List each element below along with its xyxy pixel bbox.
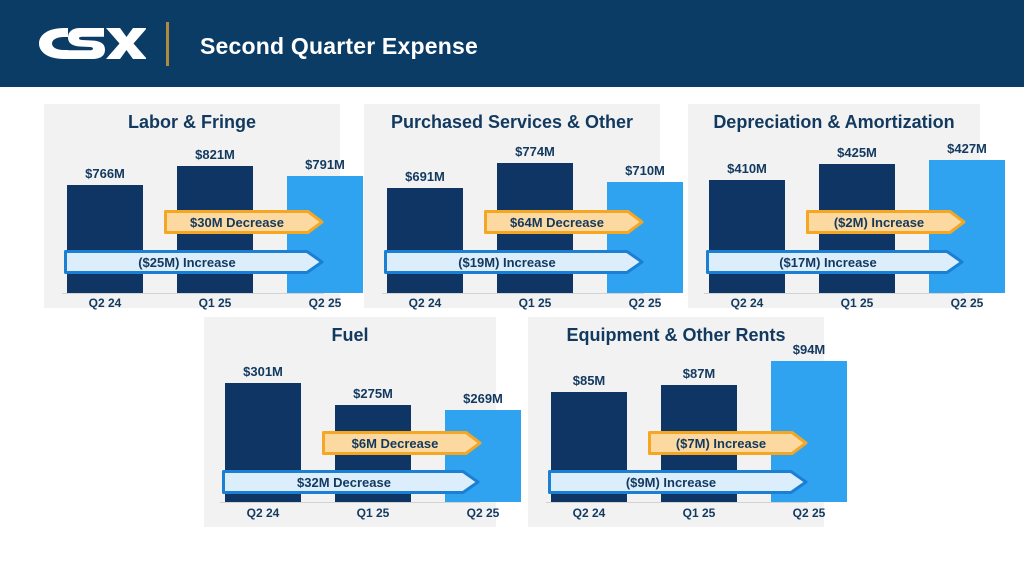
category-label-q1-25: Q1 25 <box>335 506 411 520</box>
panel-labor-and-fringe: Labor & Fringe $766M $821M $791M $30M De… <box>44 104 340 308</box>
bar-value-q2-25: $269M <box>445 391 521 406</box>
csx-logo <box>34 21 146 66</box>
bar-q2-24 <box>709 180 785 293</box>
bar-value-q1-25: $425M <box>819 145 895 160</box>
category-label-q2-24: Q2 24 <box>387 296 463 310</box>
callout-orange: $6M Decrease <box>322 430 482 456</box>
category-label-q2-25: Q2 25 <box>445 506 521 520</box>
callout-blue-label: ($9M) Increase <box>626 475 730 490</box>
category-label-q1-25: Q1 25 <box>497 296 573 310</box>
category-label-q2-25: Q2 25 <box>287 296 363 310</box>
axis-line <box>382 293 644 294</box>
bar-value-q2-25: $791M <box>287 157 363 172</box>
category-label-q2-25: Q2 25 <box>607 296 683 310</box>
page-title: Second Quarter Expense <box>200 33 478 60</box>
category-label-q1-25: Q1 25 <box>661 506 737 520</box>
category-label-q1-25: Q1 25 <box>177 296 253 310</box>
callout-orange-label: $64M Decrease <box>510 215 618 230</box>
callout-blue-label: ($25M) Increase <box>138 255 250 270</box>
panel-depreciation-and-amortization: Depreciation & Amortization $410M $425M … <box>688 104 980 308</box>
callout-blue: $32M Decrease <box>222 469 480 495</box>
bar-value-q1-25: $275M <box>335 386 411 401</box>
axis-line <box>546 502 808 503</box>
callout-blue: ($19M) Increase <box>384 249 644 275</box>
callout-orange-label: $30M Decrease <box>190 215 298 230</box>
bar-value-q2-24: $410M <box>709 161 785 176</box>
bar-value-q1-25: $87M <box>661 366 737 381</box>
category-label-q2-25: Q2 25 <box>771 506 847 520</box>
bar-value-q2-24: $691M <box>387 169 463 184</box>
callout-blue: ($17M) Increase <box>706 249 964 275</box>
callout-orange: ($2M) Increase <box>806 209 966 235</box>
category-label-q2-24: Q2 24 <box>709 296 785 310</box>
category-label-q2-24: Q2 24 <box>67 296 143 310</box>
callout-orange-label: ($7M) Increase <box>676 436 780 451</box>
category-label-q2-25: Q2 25 <box>929 296 1005 310</box>
plot-area: $301M $275M $269M $6M Decrease $32M Decr… <box>204 317 496 527</box>
bar-value-q2-24: $301M <box>225 364 301 379</box>
bar-value-q1-25: $821M <box>177 147 253 162</box>
panel-fuel: Fuel $301M $275M $269M $6M Decrease $32M… <box>204 317 496 527</box>
panel-equipment-and-other-rents: Equipment & Other Rents $85M $87M $94M (… <box>528 317 824 527</box>
bar-q2-25 <box>607 182 683 293</box>
axis-line <box>704 293 964 294</box>
category-label-q2-24: Q2 24 <box>551 506 627 520</box>
bar-value-q2-24: $85M <box>551 373 627 388</box>
bar-value-q2-25: $710M <box>607 163 683 178</box>
plot-area: $85M $87M $94M ($7M) Increase ($9M) Incr… <box>528 317 824 527</box>
panel-purchased-services-and-other: Purchased Services & Other $691M $774M $… <box>364 104 660 308</box>
plot-area: $766M $821M $791M $30M Decrease ($25M) I… <box>44 104 340 308</box>
bar-value-q2-24: $766M <box>67 166 143 181</box>
callout-orange-label: ($2M) Increase <box>834 215 938 230</box>
bar-q2-24 <box>387 188 463 293</box>
callout-orange: $30M Decrease <box>164 209 324 235</box>
plot-area: $410M $425M $427M ($2M) Increase ($17M) … <box>688 104 980 308</box>
header-divider <box>166 22 169 66</box>
callout-blue-label: $32M Decrease <box>297 475 405 490</box>
axis-line <box>220 502 480 503</box>
bar-value-q2-25: $94M <box>771 342 847 357</box>
callout-blue-label: ($17M) Increase <box>779 255 891 270</box>
axis-line <box>62 293 324 294</box>
plot-area: $691M $774M $710M $64M Decrease ($19M) I… <box>364 104 660 308</box>
bar-value-q2-25: $427M <box>929 141 1005 156</box>
callout-orange: ($7M) Increase <box>648 430 808 456</box>
callout-orange: $64M Decrease <box>484 209 644 235</box>
bar-q2-24 <box>67 185 143 293</box>
category-label-q1-25: Q1 25 <box>819 296 895 310</box>
callout-blue-label: ($19M) Increase <box>458 255 570 270</box>
bar-value-q1-25: $774M <box>497 144 573 159</box>
callout-blue: ($25M) Increase <box>64 249 324 275</box>
callout-blue: ($9M) Increase <box>548 469 808 495</box>
header-bar: Second Quarter Expense <box>0 0 1024 87</box>
callout-orange-label: $6M Decrease <box>352 436 453 451</box>
category-label-q2-24: Q2 24 <box>225 506 301 520</box>
